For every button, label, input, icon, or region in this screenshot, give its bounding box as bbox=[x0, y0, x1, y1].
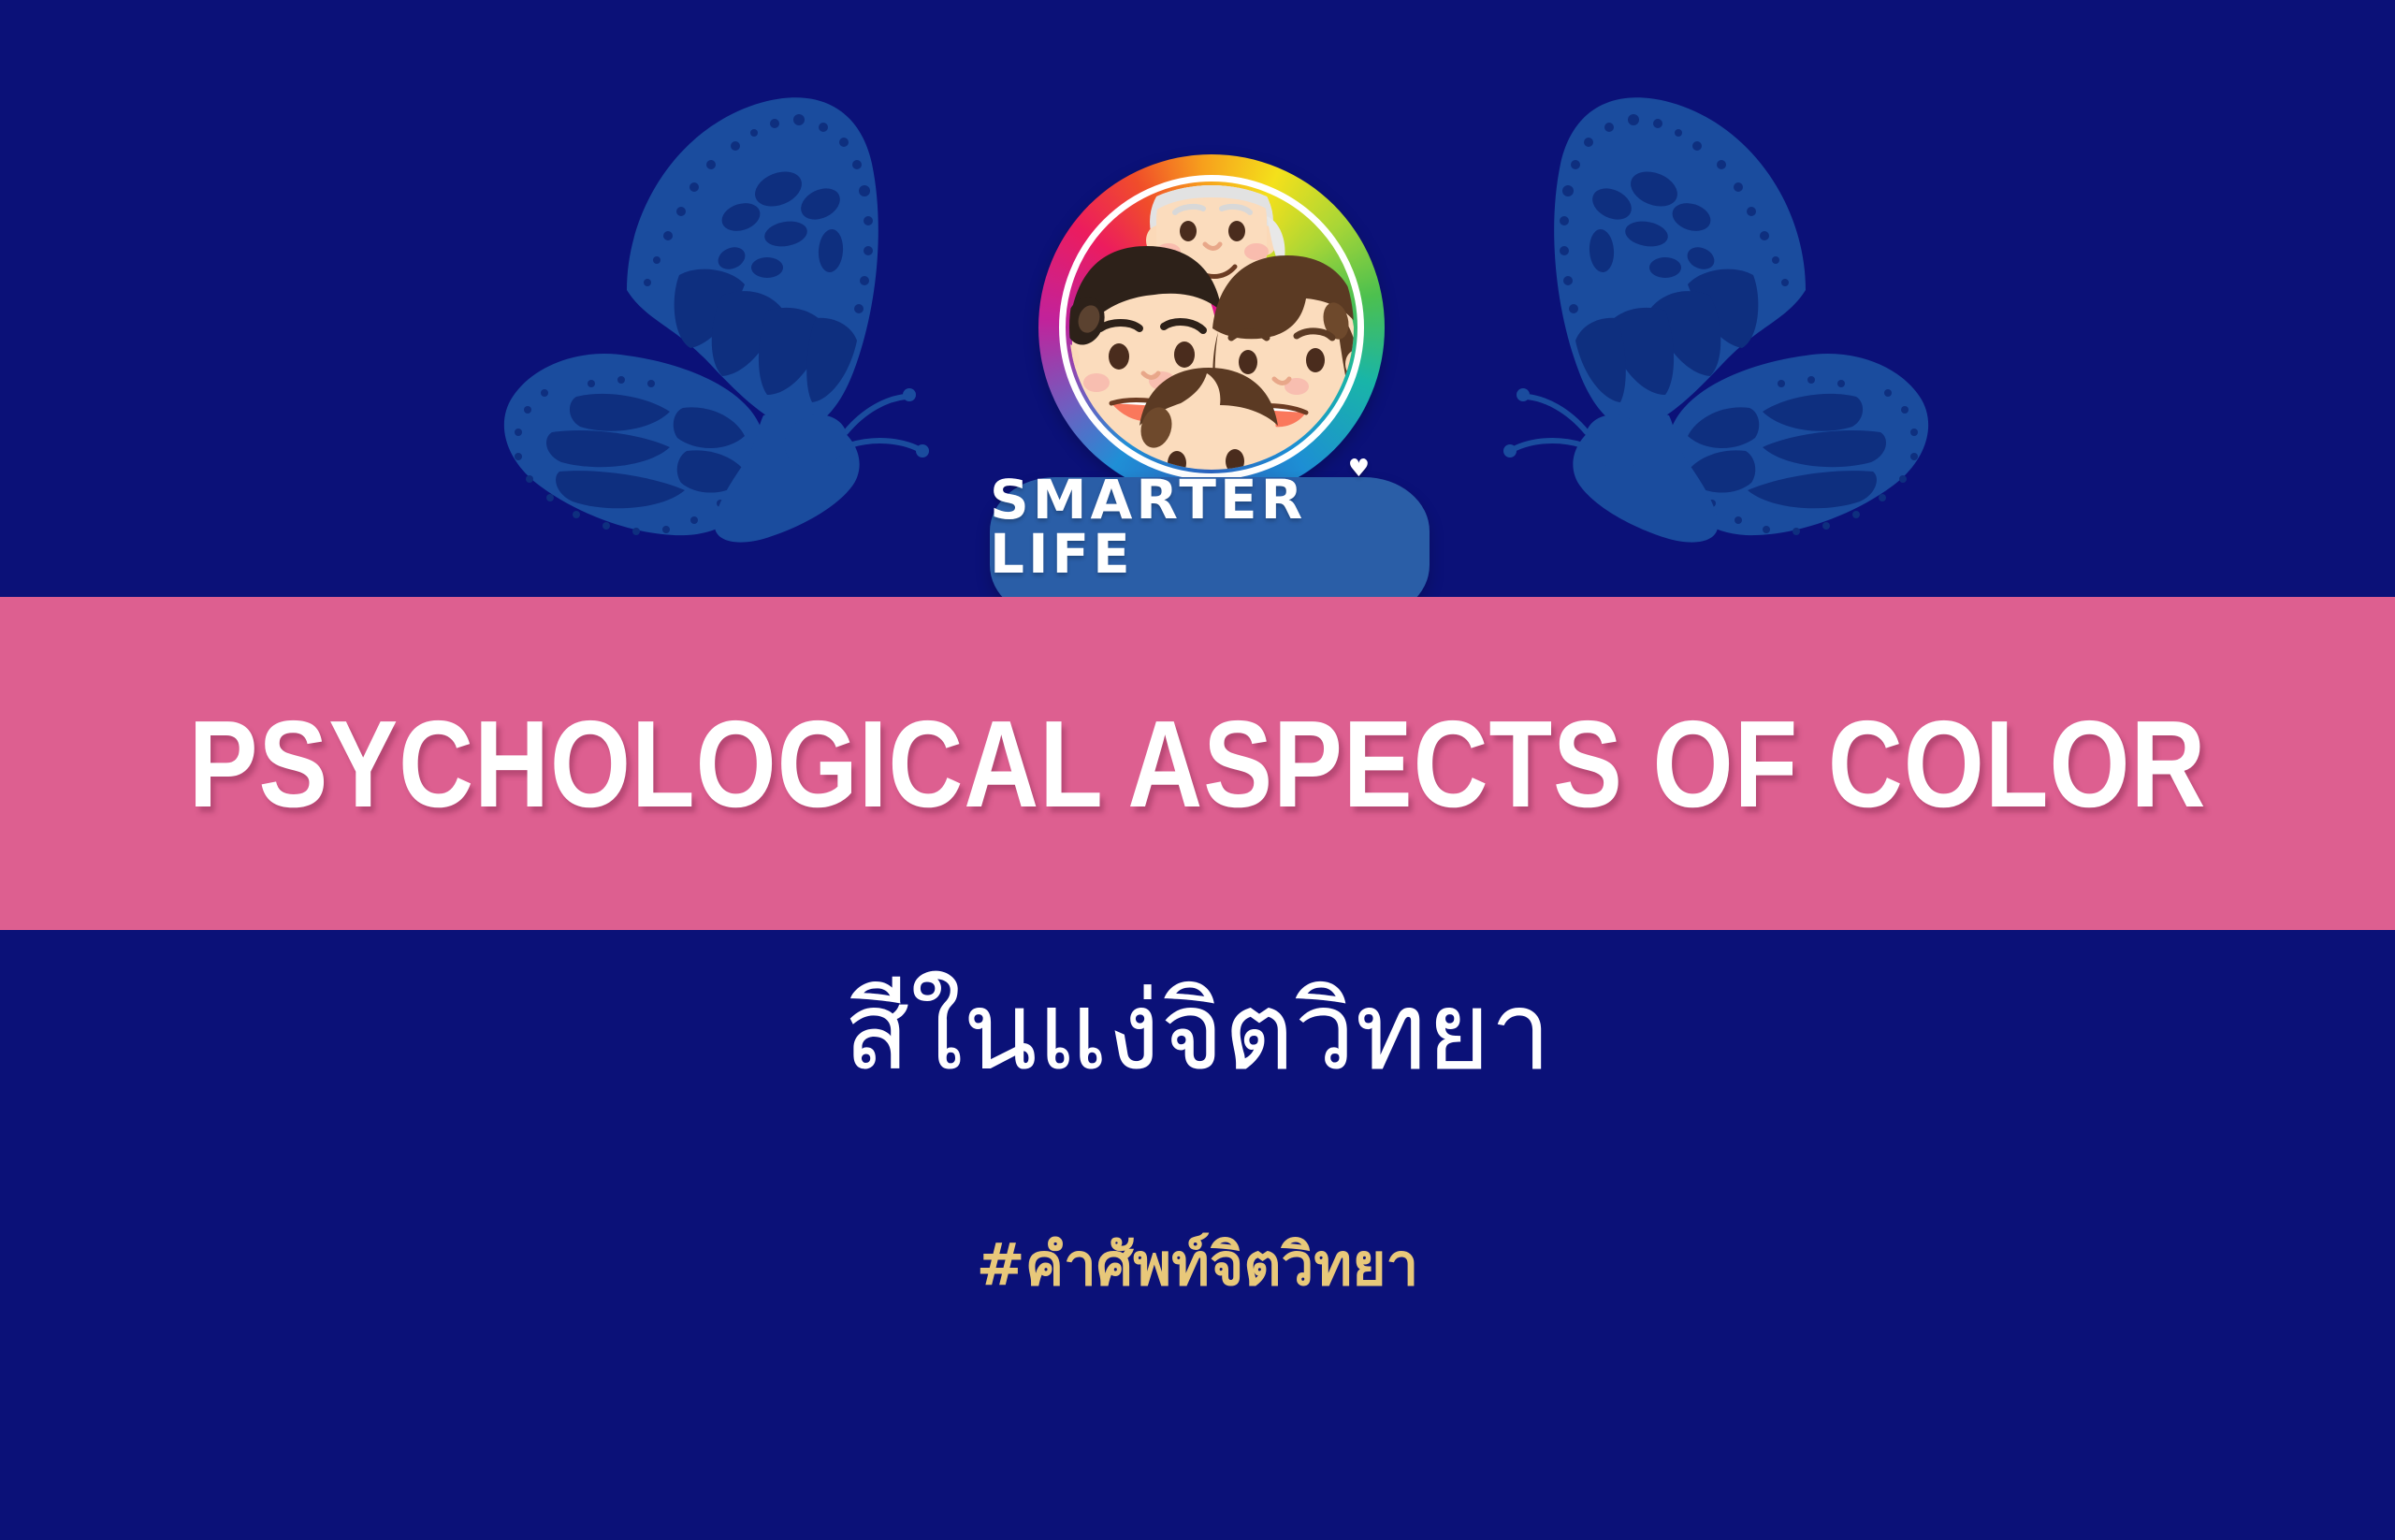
page-title: PSYCHOLOGICAL ASPECTS OF COLOR bbox=[192, 597, 2203, 930]
family-rainbow-circle-logo bbox=[1038, 154, 1385, 501]
slide-canvas: SMARTER LIFE ♥ BY PSYCHOLOGY PSYCHOLOGIC… bbox=[0, 0, 2395, 1540]
heart-icon: ♥ bbox=[1348, 457, 1373, 481]
butterfly-icon bbox=[486, 75, 954, 561]
hashtag-label: #คำศัพท์จิตวิทยา bbox=[0, 1228, 2395, 1303]
brand-name-text: SMARTER LIFE bbox=[990, 468, 1306, 586]
brand-name: SMARTER LIFE ♥ bbox=[990, 472, 1430, 581]
smarter-life-logo: SMARTER LIFE ♥ BY PSYCHOLOGY bbox=[990, 103, 1430, 627]
butterfly-icon bbox=[1478, 75, 1946, 561]
thai-subtitle: สีในแง่จิตวิทยา bbox=[0, 964, 2395, 1099]
family-faces-illustration bbox=[1038, 154, 1385, 501]
